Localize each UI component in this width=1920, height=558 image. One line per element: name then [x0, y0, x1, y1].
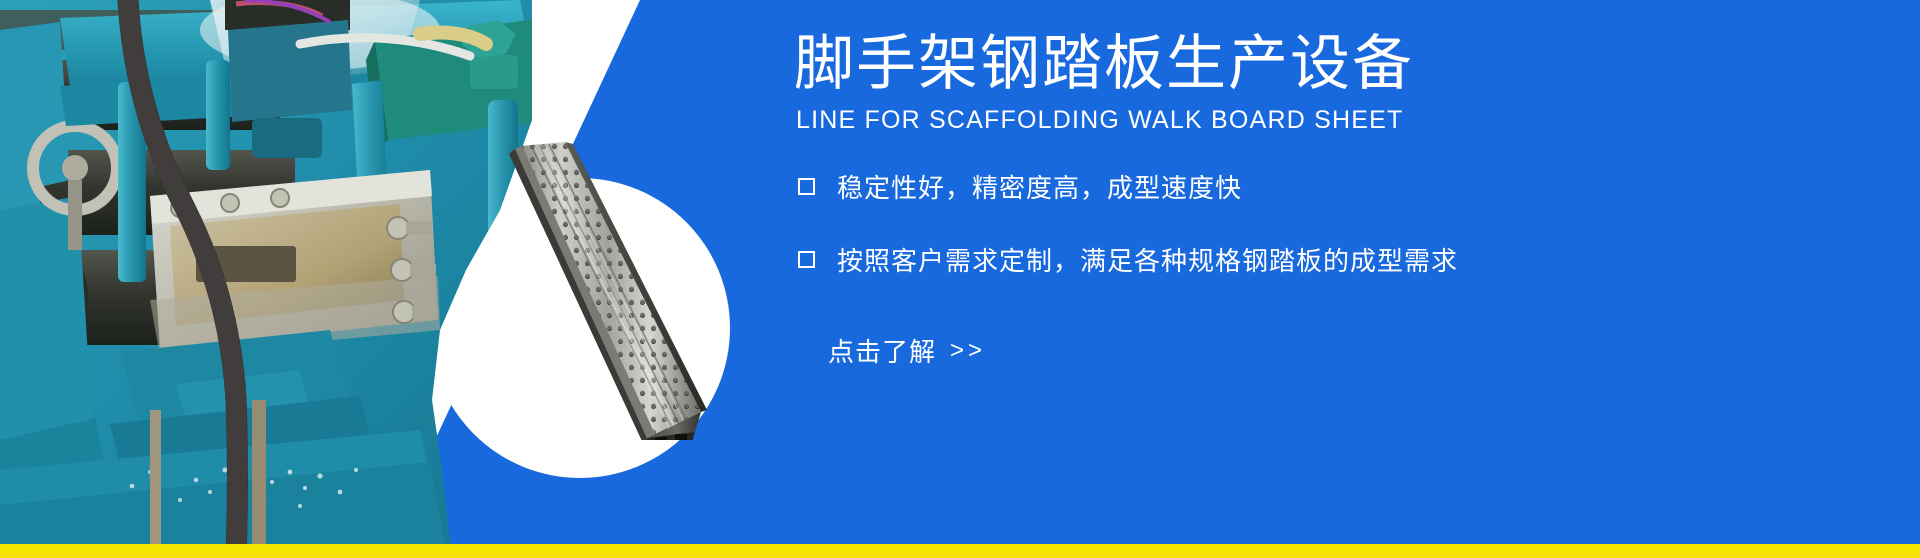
feature-list: 稳定性好，精密度高，成型速度快 按照客户需求定制，满足各种规格钢踏板的成型需求: [798, 168, 1888, 314]
banner-subheadline: LINE FOR SCAFFOLDING WALK BOARD SHEET: [796, 106, 1403, 135]
learn-more-link[interactable]: 点击了解 >>: [828, 332, 986, 369]
feature-text: 稳定性好，精密度高，成型速度快: [837, 168, 1242, 205]
feature-item: 稳定性好，精密度高，成型速度快: [798, 168, 1888, 205]
square-outline-icon: [798, 251, 815, 268]
banner-headline: 脚手架钢踏板生产设备: [794, 32, 1414, 95]
banner-text-column: 脚手架钢踏板生产设备 LINE FOR SCAFFOLDING WALK BOA…: [786, 0, 1896, 558]
double-chevron-right-icon: >>: [950, 337, 986, 365]
feature-text: 按照客户需求定制，满足各种规格钢踏板的成型需求: [837, 241, 1458, 278]
feature-item: 按照客户需求定制，满足各种规格钢踏板的成型需求: [798, 241, 1888, 278]
promo-banner: 脚手架钢踏板生产设备 LINE FOR SCAFFOLDING WALK BOA…: [0, 0, 1920, 558]
cta-label: 点击了解: [828, 332, 936, 369]
bottom-accent-strip: [0, 544, 1920, 558]
square-outline-icon: [798, 178, 815, 195]
product-photo: [505, 140, 720, 440]
steel-plank-illustration: [505, 140, 720, 440]
